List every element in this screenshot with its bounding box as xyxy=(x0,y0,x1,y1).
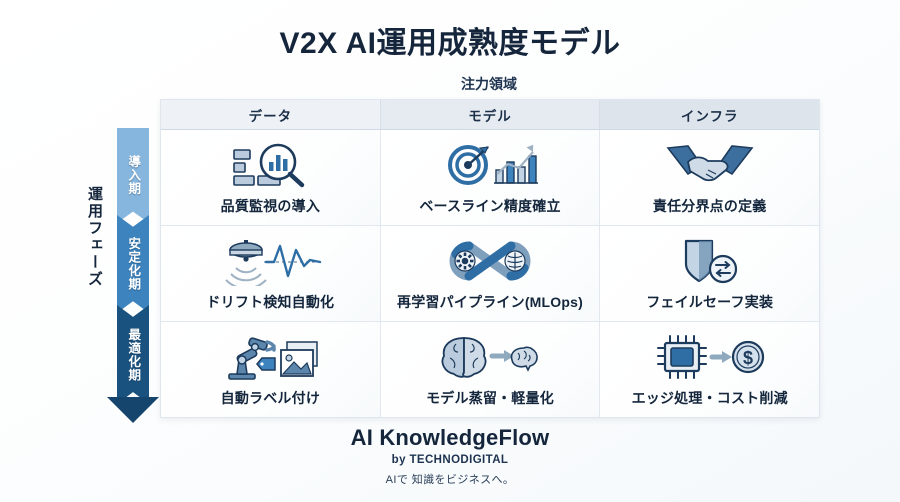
footer: AI KnowledgeFlow by TECHNODIGITAL AIで 知識… xyxy=(0,425,900,487)
handshake-icon xyxy=(662,140,758,190)
cell-label: ベースライン精度確立 xyxy=(419,196,560,216)
phase-axis-label: 運用フェーズ xyxy=(78,186,102,288)
cell-label: フェイルセーフ実装 xyxy=(646,292,773,312)
matrix-row-introduction: 品質監視の導入 xyxy=(161,130,819,226)
column-header-model: モデル xyxy=(381,100,601,129)
phase-segment-stabilization: 安定化期 xyxy=(117,215,149,313)
cell-drift-detection[interactable]: ドリフト検知自動化 xyxy=(161,226,381,321)
cell-label: 再学習パイプライン(MLOps) xyxy=(397,292,583,312)
chip-to-coin-icon: $ xyxy=(654,332,766,382)
column-header-infra: インフラ xyxy=(600,100,819,129)
cell-label: ドリフト検知自動化 xyxy=(206,292,334,312)
cell-auto-labeling[interactable]: 自動ラベル付け xyxy=(161,322,381,417)
matrix-row-optimization: 自動ラベル付け xyxy=(161,322,819,417)
brand-tagline: AIで 知識をビジネスへ。 xyxy=(0,471,900,487)
brand-byline: by TECHNODIGITAL xyxy=(0,454,900,466)
cell-model-distillation[interactable]: モデル蒸留・軽量化 xyxy=(381,322,601,417)
cell-label: モデル蒸留・軽量化 xyxy=(426,388,554,408)
page-title: V2X AI運用成熟度モデル xyxy=(0,18,900,62)
phase-arrow-tip xyxy=(107,397,159,423)
cell-baseline-accuracy[interactable]: ベースライン精度確立 xyxy=(381,130,601,225)
matrix-header-row: データ モデル インフラ xyxy=(161,100,819,130)
phase-segment-optimization: 最適化期 xyxy=(117,305,149,404)
cell-label: 自動ラベル付け xyxy=(221,388,320,408)
cell-edge-cost-reduction[interactable]: $ エッジ処理・コスト削減 xyxy=(600,322,819,417)
cell-label: エッジ処理・コスト削減 xyxy=(632,388,788,408)
phase-segment-introduction: 導入期 xyxy=(117,128,149,223)
infinity-loop-gear-brain-icon xyxy=(435,236,545,286)
cell-responsibility-boundary[interactable]: 責任分界点の定義 xyxy=(600,130,819,225)
cell-retraining-pipeline[interactable]: 再学習パイプライン(MLOps) xyxy=(381,226,601,321)
maturity-matrix: データ モデル インフラ xyxy=(160,99,820,418)
cell-label: 責任分界点の定義 xyxy=(653,196,767,216)
cell-failsafe-implementation[interactable]: フェイルセーフ実装 xyxy=(600,226,819,321)
svg-text:$: $ xyxy=(743,348,753,368)
data-quality-magnifier-icon xyxy=(222,140,318,190)
slide-root: V2X AI運用成熟度モデル 注力領域 運用フェーズ 導入期 安定化期 最適化期… xyxy=(0,0,900,502)
shield-swap-icon xyxy=(666,236,754,286)
target-growth-chart-icon xyxy=(440,140,540,190)
focus-area-label: 注力領域 xyxy=(160,74,818,94)
cell-data-quality-monitoring[interactable]: 品質監視の導入 xyxy=(161,130,381,225)
brain-to-small-brain-icon xyxy=(434,332,546,382)
brand-name: AI KnowledgeFlow xyxy=(0,425,900,451)
phase-arrow: 導入期 安定化期 最適化期 xyxy=(117,128,149,420)
column-header-data: データ xyxy=(161,100,381,129)
matrix-row-stabilization: ドリフト検知自動化 xyxy=(161,226,819,322)
cell-label: 品質監視の導入 xyxy=(221,196,320,216)
sensor-waveform-icon xyxy=(218,236,322,286)
robot-arm-tag-image-icon xyxy=(215,332,325,382)
